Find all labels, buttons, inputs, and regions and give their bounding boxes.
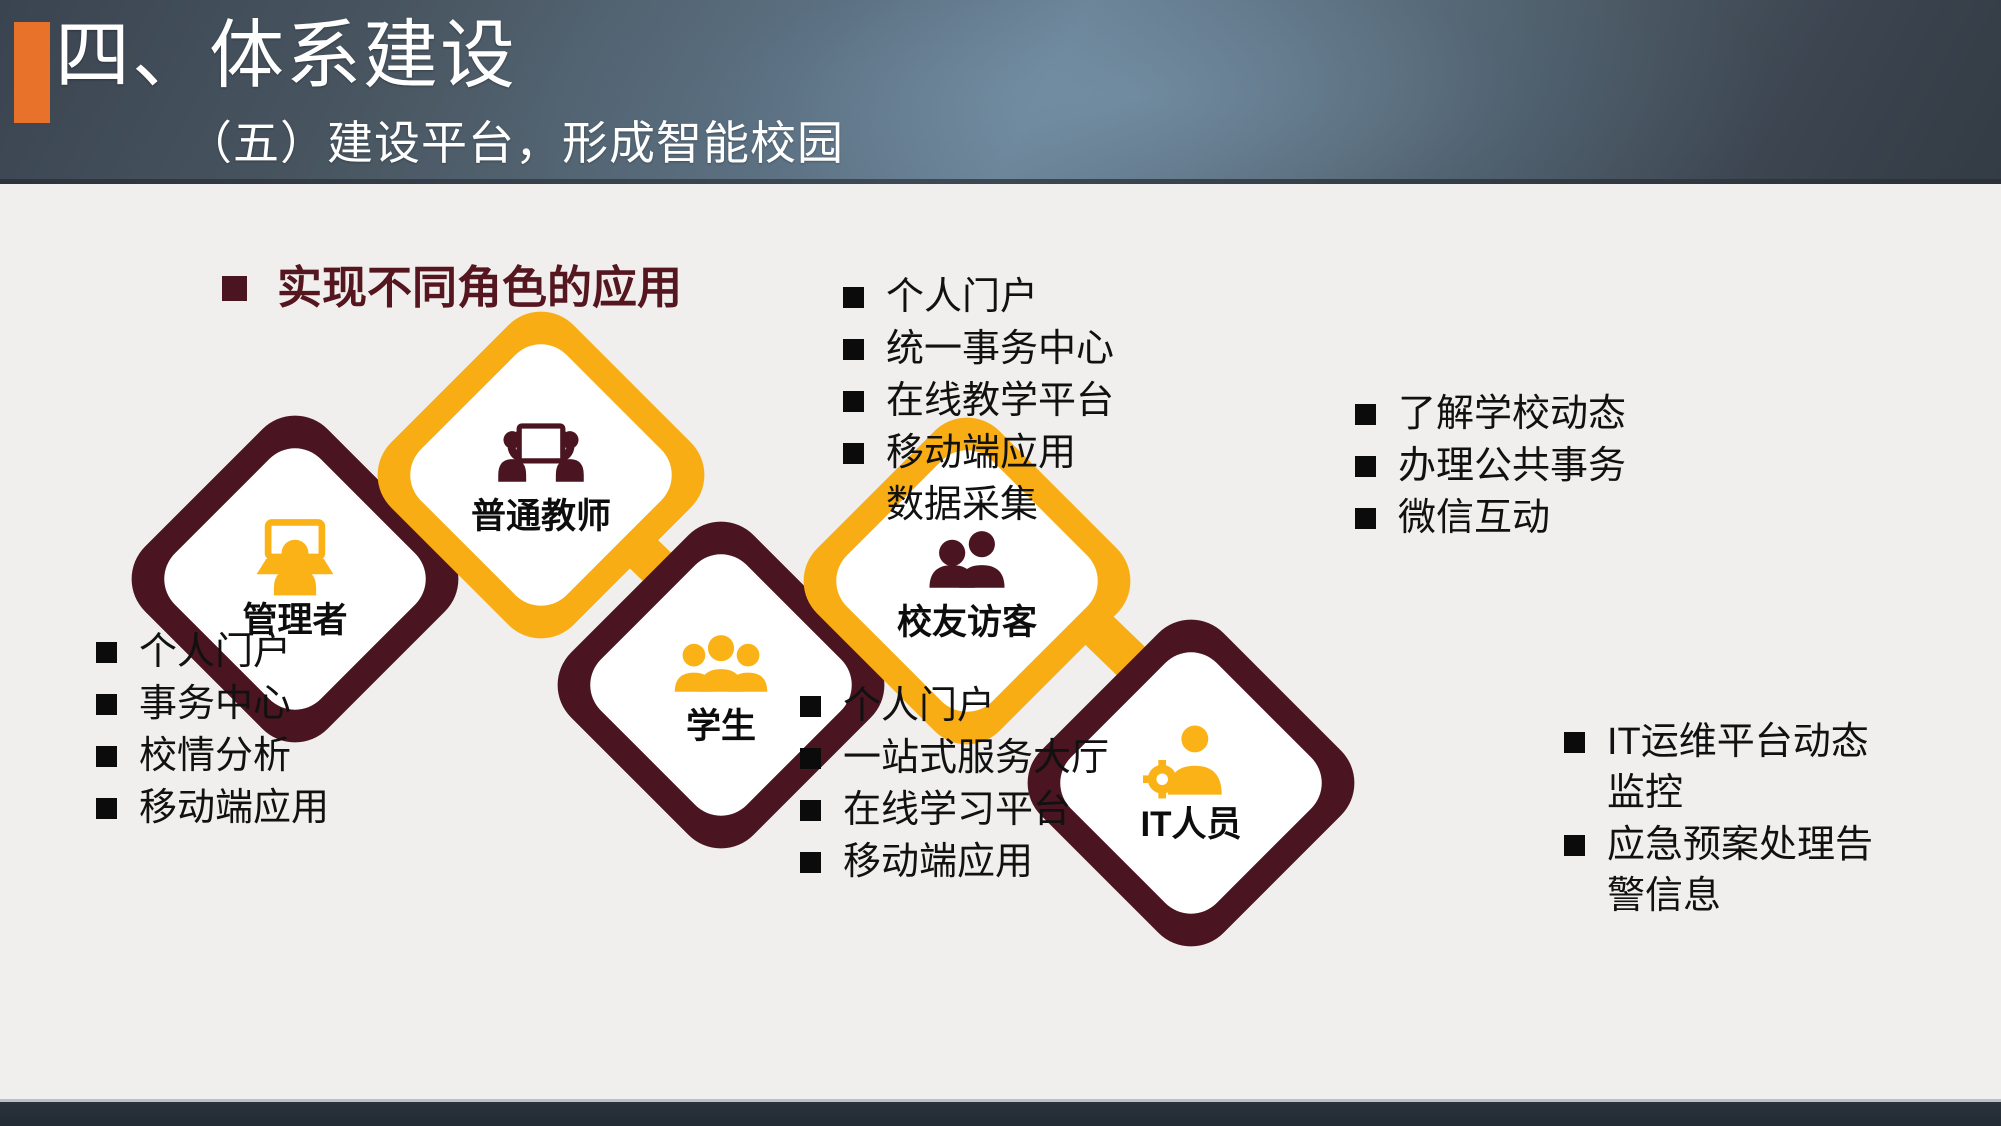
bullet-square-icon xyxy=(1564,732,1585,753)
list-item: 事务中心 xyxy=(96,679,329,730)
list-item-label: 了解学校动态 xyxy=(1398,389,1626,440)
bullet-square-icon xyxy=(1564,835,1585,856)
list-item-label: 移动端应用 xyxy=(139,783,329,834)
list-manager: 个人门户 事务中心 校情分析 移动端应用 xyxy=(96,627,329,835)
lead-bullet-label: 实现不同角色的应用 xyxy=(277,262,682,314)
bullet-square-icon xyxy=(800,696,821,717)
node-alumni-label: 校友访客 xyxy=(897,604,1037,642)
bullet-square-icon xyxy=(96,798,117,819)
three-people-icon xyxy=(673,624,769,702)
list-item-label: IT运维平台动态 监控 xyxy=(1607,717,1869,819)
node-it-staff-content: IT人员 xyxy=(1088,680,1294,886)
list-item-label: 微信互动 xyxy=(1398,493,1550,544)
list-item: 校情分析 xyxy=(96,731,329,782)
bullet-square-icon xyxy=(96,642,117,663)
list-item-label: 移动端应用 xyxy=(886,428,1076,479)
slide-footer xyxy=(0,1102,2001,1126)
list-student: 个人门户 一站式服务大厅 在线学习平台 移动端应用 xyxy=(800,681,1109,889)
node-student-content: 学生 xyxy=(618,582,824,788)
header-accent-bar xyxy=(14,22,50,123)
node-student-label: 学生 xyxy=(686,708,756,746)
list-item: 移动端应用 xyxy=(96,783,329,834)
list-teacher: 个人门户 统一事务中心 在线教学平台 移动端应用 数据采集 xyxy=(843,272,1114,532)
list-item: 在线学习平台 xyxy=(800,785,1109,836)
bullet-square-icon xyxy=(1355,456,1376,477)
list-it-staff: IT运维平台动态 监控 应急预案处理告 警信息 xyxy=(1564,717,1873,923)
bullet-square-icon xyxy=(1355,404,1376,425)
page-subtitle: （五）建设平台，形成智能校园 xyxy=(186,113,844,173)
bullet-square-icon xyxy=(96,746,117,767)
node-it-staff-label: IT人员 xyxy=(1140,806,1241,844)
list-item: 办理公共事务 xyxy=(1355,441,1626,492)
bullet-square-icon xyxy=(843,443,864,464)
list-item-label: 应急预案处理告 警信息 xyxy=(1607,820,1873,922)
list-item-label: 办理公共事务 xyxy=(1398,441,1626,492)
list-item: 一站式服务大厅 xyxy=(800,733,1109,784)
list-item: IT运维平台动态 监控 xyxy=(1564,717,1873,819)
list-item-label: 移动端应用 xyxy=(843,837,1033,888)
list-item-label: 统一事务中心 xyxy=(886,324,1114,375)
node-teacher-content: 普通教师 xyxy=(438,372,644,578)
list-item: 微信互动 xyxy=(1355,493,1626,544)
list-item-label: 在线教学平台 xyxy=(886,376,1114,427)
page-title: 四、体系建设 xyxy=(55,8,517,102)
person-gear-icon xyxy=(1143,722,1239,800)
bullet-square-icon xyxy=(800,800,821,821)
bullet-square-icon xyxy=(1355,508,1376,529)
list-item: 了解学校动态 xyxy=(1355,389,1626,440)
list-item: 移动端应用 xyxy=(800,837,1109,888)
list-item: 个人门户 xyxy=(843,272,1114,323)
bullet-square-icon xyxy=(800,852,821,873)
list-item-label: 个人门户 xyxy=(139,627,291,678)
teacher-board-icon xyxy=(493,414,589,492)
slide-header: 四、体系建设 （五）建设平台，形成智能校园 xyxy=(0,0,2001,184)
bullet-square-icon xyxy=(843,391,864,412)
list-item-label: 在线学习平台 xyxy=(843,785,1071,836)
list-item: 数据采集 xyxy=(843,480,1114,531)
list-item-label: 校情分析 xyxy=(139,731,291,782)
list-item: 个人门户 xyxy=(96,627,329,678)
slide-root: 四、体系建设 （五）建设平台，形成智能校园 实现不同角色的应用 xyxy=(0,0,2001,1126)
list-item: 在线教学平台 xyxy=(843,376,1114,427)
list-item-label: 个人门户 xyxy=(843,681,995,732)
bullet-square-icon xyxy=(96,694,117,715)
list-item-label: 数据采集 xyxy=(886,480,1038,531)
person-at-monitor-icon xyxy=(247,518,343,596)
list-item-label: 个人门户 xyxy=(886,272,1038,323)
node-teacher-label: 普通教师 xyxy=(471,498,611,536)
list-alumni: 了解学校动态 办理公共事务 微信互动 xyxy=(1355,389,1626,545)
list-item: 移动端应用 xyxy=(843,428,1114,479)
bullet-square-icon xyxy=(800,748,821,769)
list-item: 个人门户 xyxy=(800,681,1109,732)
bullet-square-icon xyxy=(843,287,864,308)
list-item: 应急预案处理告 警信息 xyxy=(1564,820,1873,922)
bullet-square-icon xyxy=(222,276,247,301)
list-item: 统一事务中心 xyxy=(843,324,1114,375)
lead-bullet: 实现不同角色的应用 xyxy=(222,262,682,314)
slide-body: 实现不同角色的应用 管理者 xyxy=(0,184,2001,1102)
list-item-label: 一站式服务大厅 xyxy=(843,733,1109,784)
list-item-label: 事务中心 xyxy=(139,679,291,730)
bullet-square-icon xyxy=(843,339,864,360)
